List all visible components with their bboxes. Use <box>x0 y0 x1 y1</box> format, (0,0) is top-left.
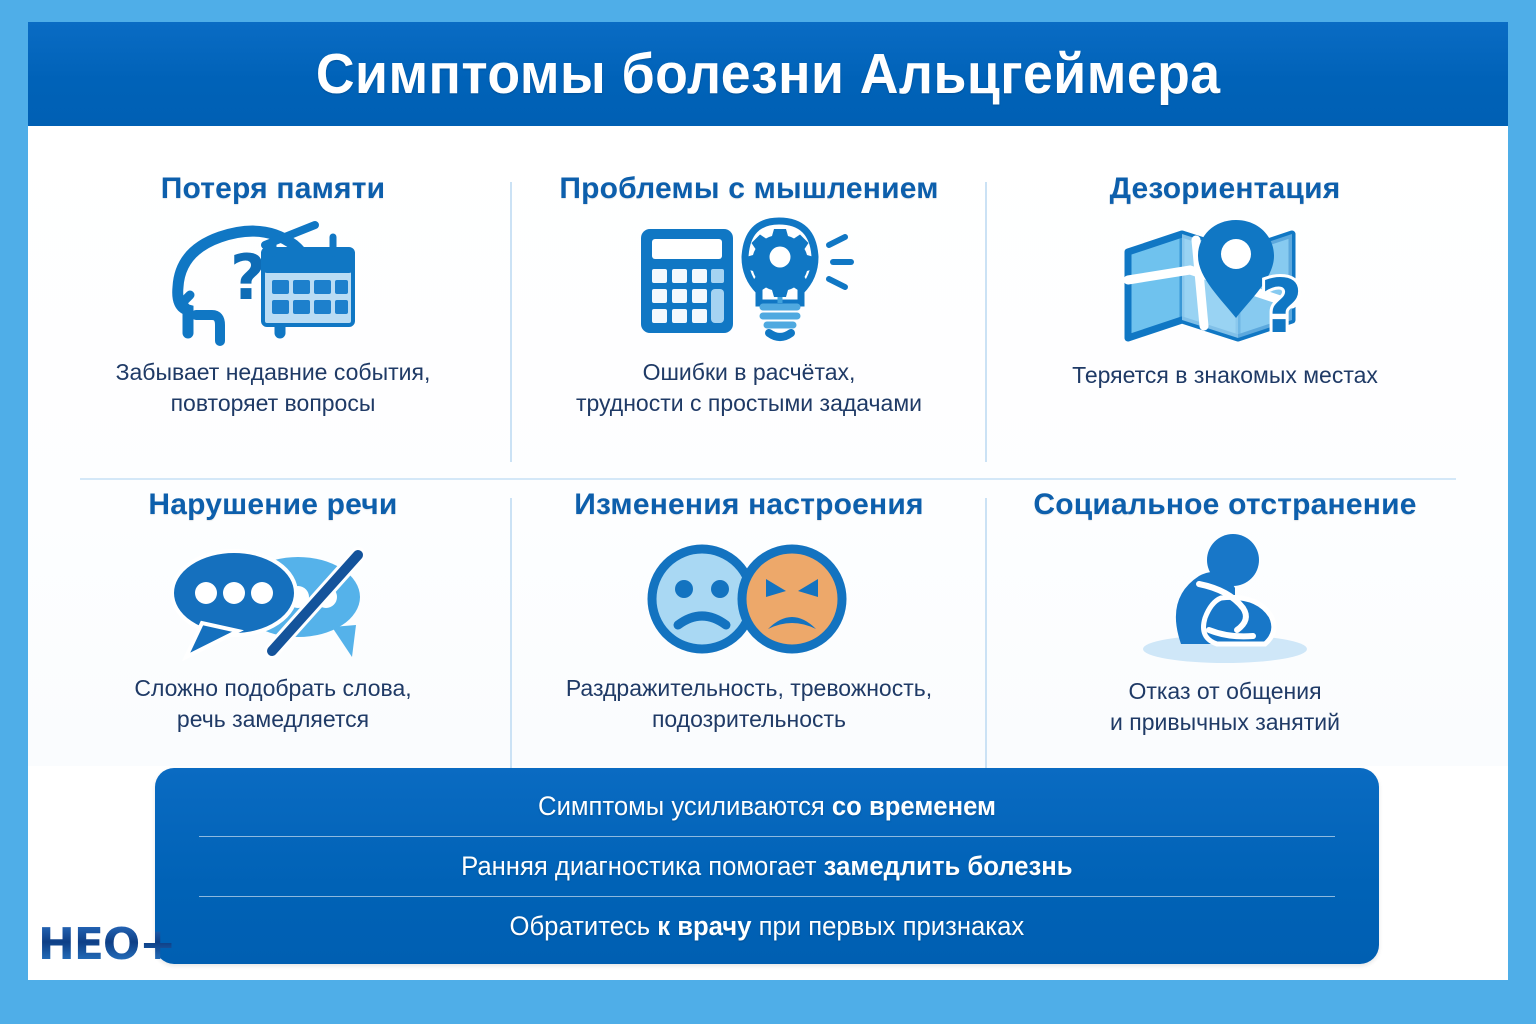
banner-line-3-plain: Обратитесь <box>510 911 658 941</box>
card-description: Раздражительность, тревожность,подозрите… <box>512 673 986 734</box>
card-description: Теряется в знакомых местах <box>988 360 1462 391</box>
banner-line-3-bold: к врачу <box>657 911 751 941</box>
banner-line-2: Ранняя диагностика помогает замедлить бо… <box>461 837 1072 896</box>
neo-plus-logo: НЕО+ <box>38 919 175 970</box>
banner-line-3-plain2: при первых признаках <box>752 911 1025 941</box>
symptom-card-social-withdrawal: Социальное отстранение Отказ от общенияи… <box>988 488 1462 737</box>
card-title: Нарушение речи <box>36 488 510 522</box>
card-title: Изменения настроения <box>512 488 986 522</box>
title-bar: Симптомы болезни Альцгеймера <box>28 22 1508 126</box>
banner-line-1-plain: Симптомы усиливаются <box>538 791 832 821</box>
map-pin-question-icon: ? <box>988 212 1462 360</box>
symptom-card-disorientation: Дезориентация ? <box>988 172 1462 391</box>
card-description: Отказ от общенияи привычных занятий <box>988 676 1462 737</box>
head-question-calendar-icon: ? <box>36 212 510 357</box>
speech-bubbles-crossed-icon <box>36 528 510 673</box>
banner-line-2-plain: Ранняя диагностика помогает <box>461 851 824 881</box>
poster: Симптомы болезни Альцгеймера Потеря памя… <box>28 22 1508 980</box>
angry-face <box>742 549 842 649</box>
banner-line-1-bold: со временем <box>832 791 996 821</box>
symptom-card-mood-changes: Изменения настроения <box>512 488 986 734</box>
banner-line-2-bold: замедлить болезнь <box>824 851 1073 881</box>
card-title: Проблемы с мышлением <box>512 172 986 206</box>
card-description: Ошибки в расчётах,трудности с простыми з… <box>512 357 986 418</box>
person-sitting-alone-icon <box>988 528 1462 676</box>
card-description: Сложно подобрать слова,речь замедляется <box>36 673 510 734</box>
card-title: Социальное отстранение <box>988 488 1462 522</box>
card-title: Дезориентация <box>988 172 1462 206</box>
banner-line-3: Обратитесь к врачу при первых признаках <box>510 897 1025 956</box>
sad-angry-faces-icon <box>512 528 986 673</box>
symptom-card-speech-impairment: Нарушение речи <box>36 488 510 734</box>
card-title: Потеря памяти <box>36 172 510 206</box>
banner-line-1: Симптомы усиливаются со временем <box>538 777 996 836</box>
svg-text:?: ? <box>230 241 266 314</box>
card-description: Забывает недавние события,повторяет вопр… <box>36 357 510 418</box>
symptom-card-thinking-problems: Проблемы с мышлением <box>512 172 986 418</box>
sad-face <box>652 549 752 649</box>
calculator-lightbulb-gear-icon <box>512 212 986 357</box>
divider-horizontal <box>80 478 1456 480</box>
key-takeaways-banner: Симптомы усиливаются со временем Ранняя … <box>155 768 1379 964</box>
symptom-grid: Потеря памяти ? <box>28 126 1508 766</box>
svg-text:?: ? <box>1260 264 1303 350</box>
symptom-card-memory-loss: Потеря памяти ? <box>36 172 510 418</box>
page-title: Симптомы болезни Альцгеймера <box>316 41 1221 107</box>
